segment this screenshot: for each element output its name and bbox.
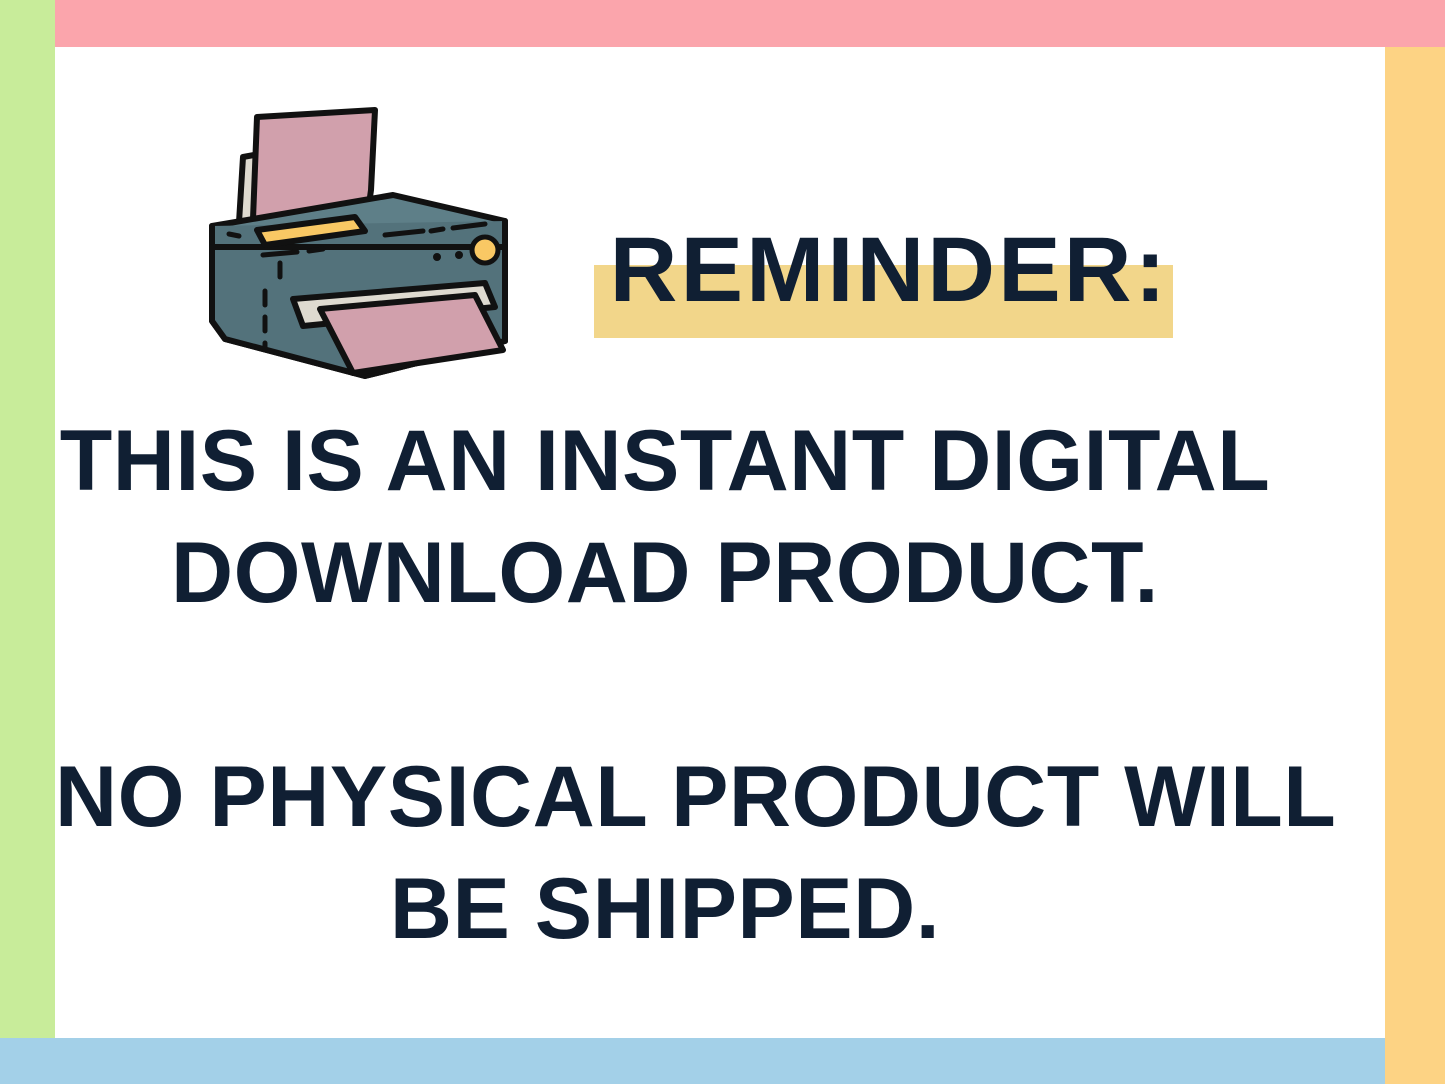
printer-power-light xyxy=(472,237,498,263)
paragraph-one: THIS IS AN INSTANT DIGITAL DOWNLOAD PROD… xyxy=(55,405,1275,629)
paragraph-one-line-two: DOWNLOAD PRODUCT. xyxy=(55,517,1275,629)
page-title: REMINDER: xyxy=(594,220,1185,320)
poster-canvas: REMINDER: THIS IS AN INSTANT DIGITAL DOW… xyxy=(0,0,1445,1084)
paragraph-spacer xyxy=(55,629,1275,741)
border-bar-right-yellow xyxy=(1385,47,1445,1084)
body-copy: THIS IS AN INSTANT DIGITAL DOWNLOAD PROD… xyxy=(55,405,1275,965)
paragraph-two-line-two: BE SHIPPED. xyxy=(55,853,1275,965)
paragraph-two-line-one: NO PHYSICAL PRODUCT WILL xyxy=(55,741,1275,853)
paragraph-two: NO PHYSICAL PRODUCT WILL BE SHIPPED. xyxy=(55,741,1275,965)
border-bar-left-green xyxy=(0,0,55,1038)
printer-icon xyxy=(185,95,545,385)
paragraph-one-line-one: THIS IS AN INSTANT DIGITAL xyxy=(55,405,1275,517)
reminder-heading-block: REMINDER: xyxy=(594,220,1194,345)
border-bar-bottom-blue xyxy=(0,1038,1385,1084)
printer-output-sheet xyxy=(320,295,503,373)
border-bar-top-pink xyxy=(55,0,1445,47)
